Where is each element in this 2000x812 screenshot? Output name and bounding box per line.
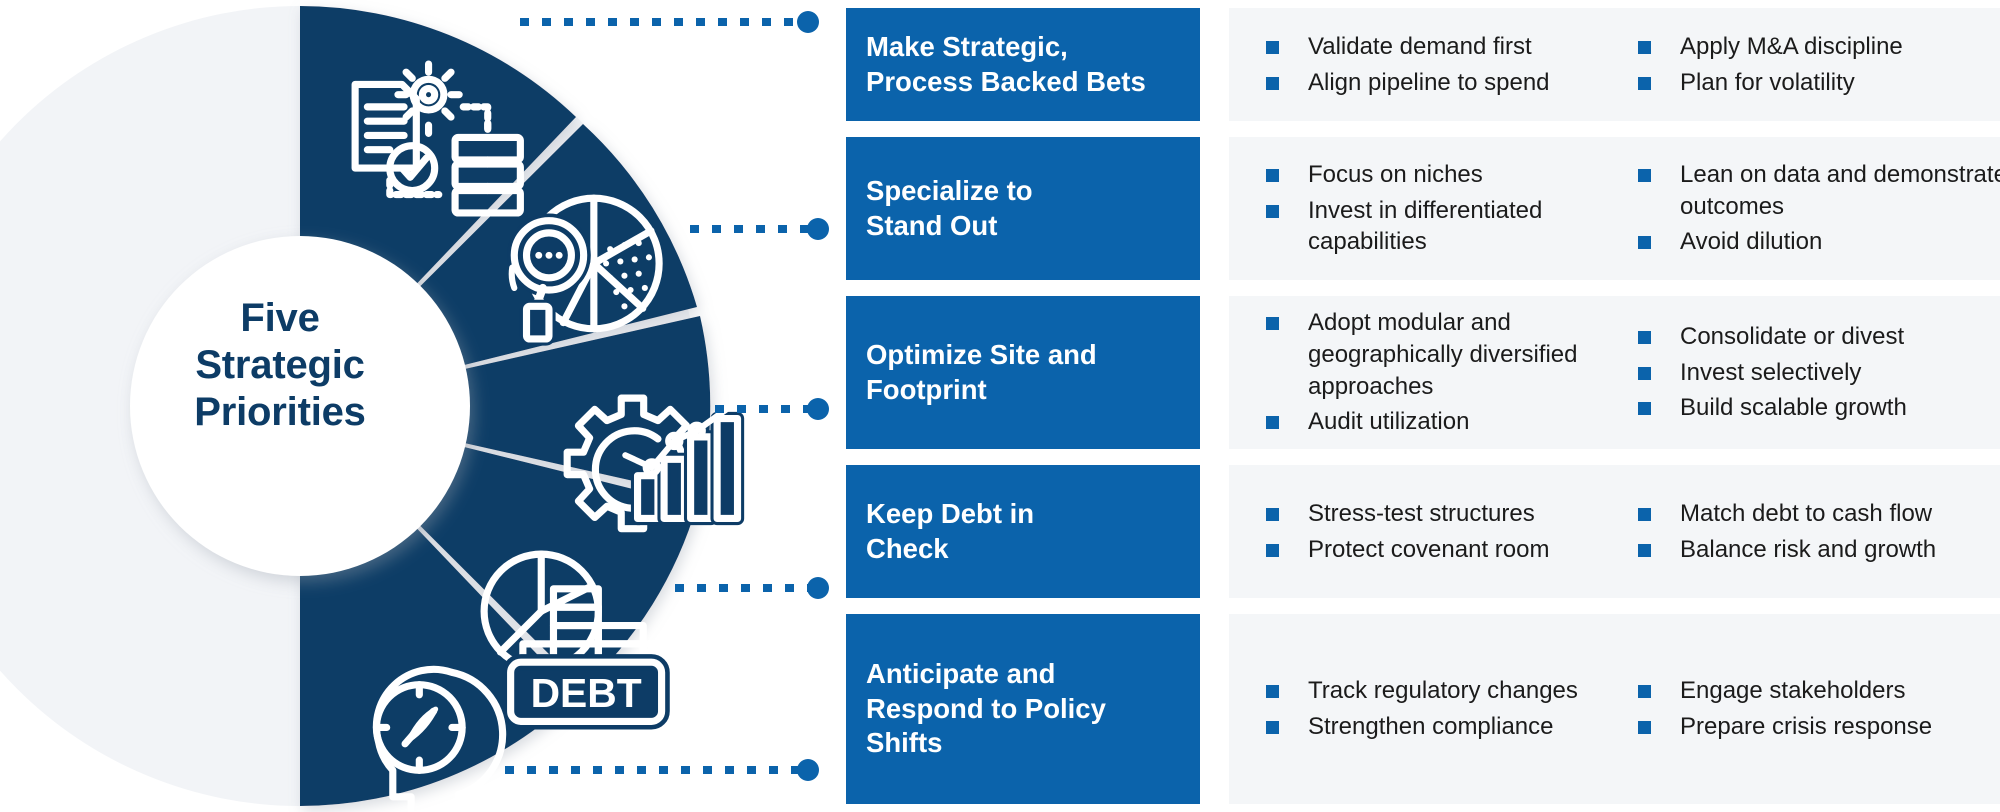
bullet-column-left: Adopt modular and geographically diversi… [1262, 307, 1634, 438]
center-title: Five Strategic Priorities [155, 295, 405, 437]
bullet-item: Balance risk and growth [1634, 534, 2000, 566]
bullet-panel: Validate demand firstAlign pipeline to s… [1229, 8, 2000, 121]
connector-dot-3 [807, 398, 829, 420]
center-title-line2: Strategic [155, 342, 405, 389]
connector-dot-5 [797, 759, 819, 781]
priority-rows: Make Strategic, Process Backed BetsValid… [846, 0, 2000, 812]
priority-row: Anticipate and Respond to Policy ShiftsT… [846, 614, 2000, 804]
bullet-column-right: Apply M&A disciplinePlan for volatility [1634, 31, 2000, 98]
bullet-column-left: Stress-test structuresProtect covenant r… [1262, 498, 1634, 565]
connector-dot-2 [807, 218, 829, 240]
priority-heading-text: Specialize to Stand Out [866, 174, 1033, 243]
priority-row: Specialize to Stand OutFocus on nichesIn… [846, 137, 2000, 280]
bullet-item: Plan for volatility [1634, 67, 2000, 99]
bullet-item: Adopt modular and geographically diversi… [1262, 307, 1634, 402]
priority-heading-text: Make Strategic, Process Backed Bets [866, 30, 1146, 99]
bullet-item: Invest in differentiated capabilities [1262, 195, 1634, 258]
infographic-root: DEBT [0, 0, 2000, 812]
bullet-item: Lean on data and demonstrated outcomes [1634, 159, 2000, 222]
bullet-item: Audit utilization [1262, 406, 1634, 438]
priority-heading[interactable]: Make Strategic, Process Backed Bets [846, 8, 1200, 121]
bullet-item: Match debt to cash flow [1634, 498, 2000, 530]
center-title-line3: Priorities [155, 389, 405, 436]
bullet-column-right: Engage stakeholdersPrepare crisis respon… [1634, 675, 2000, 742]
bullet-item: Focus on niches [1262, 159, 1634, 191]
bullet-column-left: Validate demand firstAlign pipeline to s… [1262, 31, 1634, 98]
bullet-item: Avoid dilution [1634, 226, 2000, 258]
bullet-item: Engage stakeholders [1634, 675, 2000, 707]
center-title-line1: Five [155, 295, 405, 342]
bullet-panel: Stress-test structuresProtect covenant r… [1229, 465, 2000, 598]
wheel-svg: DEBT [0, 0, 840, 812]
bullet-panel: Focus on nichesInvest in differentiated … [1229, 137, 2000, 280]
connector-dot-4 [807, 577, 829, 599]
priority-heading[interactable]: Anticipate and Respond to Policy Shifts [846, 614, 1200, 804]
priority-heading-text: Anticipate and Respond to Policy Shifts [866, 657, 1106, 761]
debt-icon-text: DEBT [531, 670, 642, 716]
connector-dots [797, 11, 829, 781]
bullet-item: Align pipeline to spend [1262, 67, 1634, 99]
priority-heading[interactable]: Keep Debt in Check [846, 465, 1200, 598]
bullet-panel: Track regulatory changesStrengthen compl… [1229, 614, 2000, 804]
priority-row: Keep Debt in CheckStress-test structures… [846, 465, 2000, 598]
five-priorities-wheel: DEBT [0, 0, 840, 812]
bullet-panel: Adopt modular and geographically diversi… [1229, 296, 2000, 449]
bullet-column-right: Match debt to cash flowBalance risk and … [1634, 498, 2000, 565]
bullet-item: Apply M&A discipline [1634, 31, 2000, 63]
bullet-column-left: Focus on nichesInvest in differentiated … [1262, 159, 1634, 258]
bullet-column-left: Track regulatory changesStrengthen compl… [1262, 675, 1634, 742]
bullet-item: Prepare crisis response [1634, 711, 2000, 743]
bullet-column-right: Lean on data and demonstrated outcomesAv… [1634, 159, 2000, 258]
bullet-item: Consolidate or divest [1634, 321, 2000, 353]
bullet-item: Strengthen compliance [1262, 711, 1634, 743]
bullet-item: Validate demand first [1262, 31, 1634, 63]
bullet-column-right: Consolidate or divestInvest selectivelyB… [1634, 321, 2000, 424]
priority-heading[interactable]: Specialize to Stand Out [846, 137, 1200, 280]
priority-row: Make Strategic, Process Backed BetsValid… [846, 8, 2000, 121]
connector-dot-1 [797, 11, 819, 33]
priority-heading-text: Optimize Site and Footprint [866, 338, 1097, 407]
priority-heading[interactable]: Optimize Site and Footprint [846, 296, 1200, 449]
bullet-item: Invest selectively [1634, 357, 2000, 389]
priority-heading-text: Keep Debt in Check [866, 497, 1034, 566]
priority-row: Optimize Site and FootprintAdopt modular… [846, 296, 2000, 449]
bullet-item: Track regulatory changes [1262, 675, 1634, 707]
bullet-item: Stress-test structures [1262, 498, 1634, 530]
bullet-item: Protect covenant room [1262, 534, 1634, 566]
bullet-item: Build scalable growth [1634, 392, 2000, 424]
